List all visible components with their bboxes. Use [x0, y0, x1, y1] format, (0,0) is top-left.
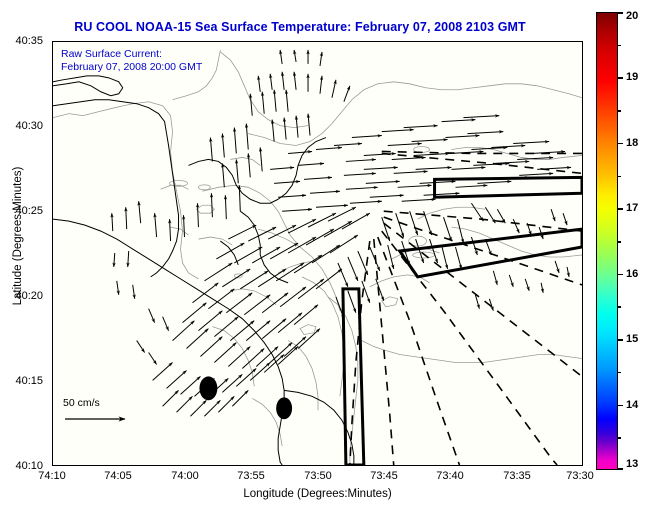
x-axis-tick-labels: 74:10 74:05 74:00 73:55 73:50 73:45 73:4…: [52, 470, 583, 486]
surface-current-vectors: [112, 50, 571, 416]
annotation-line-1: Raw Surface Current:: [61, 48, 202, 61]
y-axis-tick-labels: 40:35 40:30 40:25 40:20 40:15 40:10: [0, 41, 48, 466]
y-tick-0: 40:35: [15, 35, 43, 47]
colorbar: 20 19 18 17 16 15 14 13: [596, 12, 618, 470]
x-axis-title: Longitude (Degrees:Minutes): [52, 488, 583, 500]
scale-legend: 50 cm/s: [63, 397, 173, 427]
cbar-tick-7: 13: [626, 458, 638, 470]
island-outlines: [170, 147, 435, 335]
cbar-tick-5: 15: [626, 333, 638, 345]
x-tick-2: 74:00: [171, 470, 199, 482]
cbar-tick-6: 14: [626, 399, 638, 411]
arrow-right-icon: [63, 411, 141, 427]
cbar-tick-2: 18: [626, 137, 638, 149]
colorbar-ticks: [618, 12, 624, 470]
y-tick-4: 40:15: [15, 375, 43, 387]
cbar-tick-3: 17: [626, 202, 638, 214]
cbar-tick-1: 19: [626, 71, 638, 83]
figure-root: RU COOL NOAA-15 Sea Surface Temperature:…: [0, 0, 651, 518]
x-tick-8: 73:30: [566, 470, 594, 482]
colorbar-tick-labels: 20 19 18 17 16 15 14 13: [626, 12, 651, 470]
x-tick-4: 73:50: [304, 470, 332, 482]
x-tick-6: 73:40: [436, 470, 464, 482]
current-annotation: Raw Surface Current: February 07, 2008 2…: [61, 48, 202, 74]
x-tick-1: 74:05: [104, 470, 132, 482]
x-tick-0: 74:10: [38, 470, 66, 482]
traffic-separation-lines: [350, 151, 582, 465]
x-tick-5: 73:45: [370, 470, 398, 482]
colorbar-gradient: [596, 12, 618, 470]
y-axis-title: Latitude (Degrees:Minutes): [12, 126, 24, 346]
scale-legend-label: 50 cm/s: [63, 397, 173, 409]
map-plot-area[interactable]: Raw Surface Current: February 07, 2008 2…: [52, 41, 583, 466]
x-tick-7: 73:35: [503, 470, 531, 482]
cbar-tick-4: 16: [626, 268, 638, 280]
shipping-lanes: [343, 177, 582, 465]
annotation-line-2: February 07, 2008 20:00 GMT: [61, 61, 202, 74]
station-markers: [199, 376, 292, 419]
page-title: RU COOL NOAA-15 Sea Surface Temperature:…: [0, 20, 600, 34]
x-tick-3: 73:55: [237, 470, 265, 482]
cbar-tick-0: 20: [626, 10, 638, 22]
